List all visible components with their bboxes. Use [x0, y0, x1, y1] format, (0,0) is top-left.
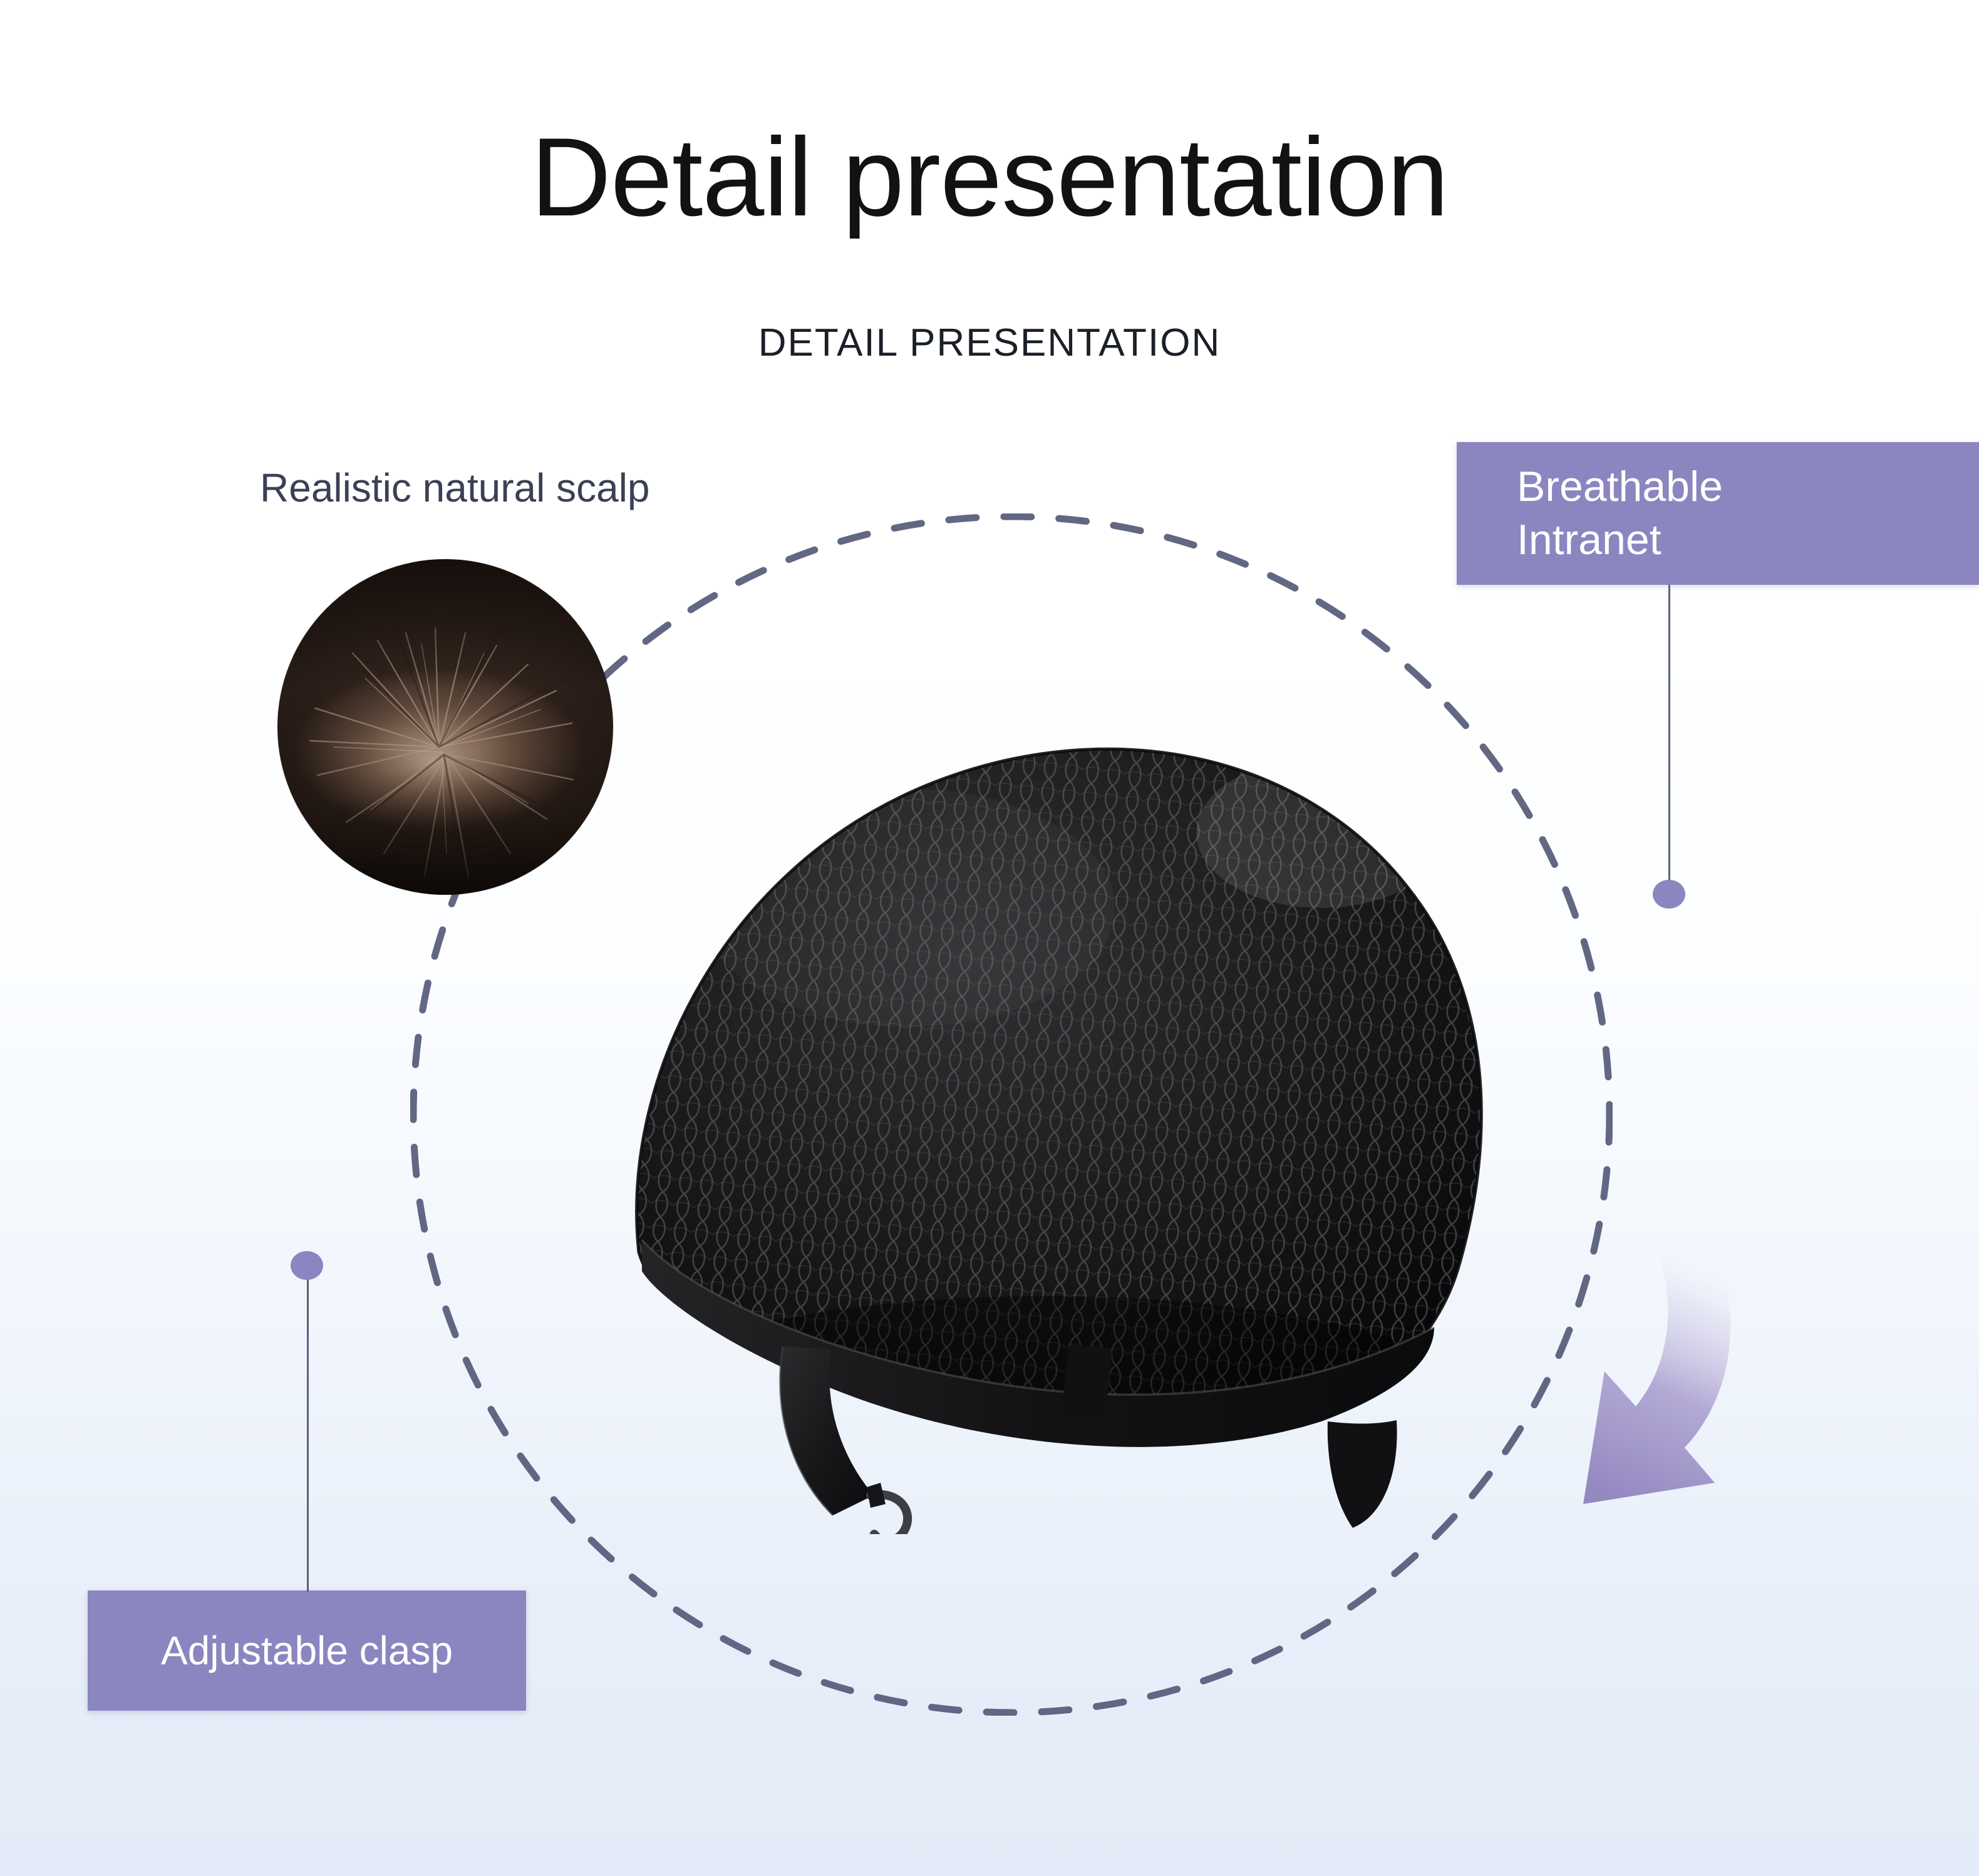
connector-dot-breathable	[1653, 880, 1685, 909]
connector-dot-clasp	[291, 1251, 323, 1280]
wig-cap-mesh-icon	[432, 639, 1559, 1534]
badge-breathable-line1: Breathable	[1517, 460, 1723, 513]
scalp-label: Realistic natural scalp	[260, 465, 650, 511]
badge-breathable-line2: Intranet	[1517, 513, 1723, 567]
page-title: Detail presentation	[0, 119, 1979, 236]
page-subtitle: DETAIL PRESENTATION	[0, 321, 1979, 365]
connector-line-clasp	[307, 1277, 309, 1592]
badge-clasp-label: Adjustable clasp	[161, 1627, 453, 1674]
curved-arrow-down-left-icon	[1553, 1227, 1760, 1565]
badge-breathable-intranet[interactable]: Breathable Intranet	[1457, 442, 1979, 585]
badge-adjustable-clasp[interactable]: Adjustable clasp	[88, 1590, 526, 1711]
connector-line-breathable	[1668, 585, 1670, 897]
